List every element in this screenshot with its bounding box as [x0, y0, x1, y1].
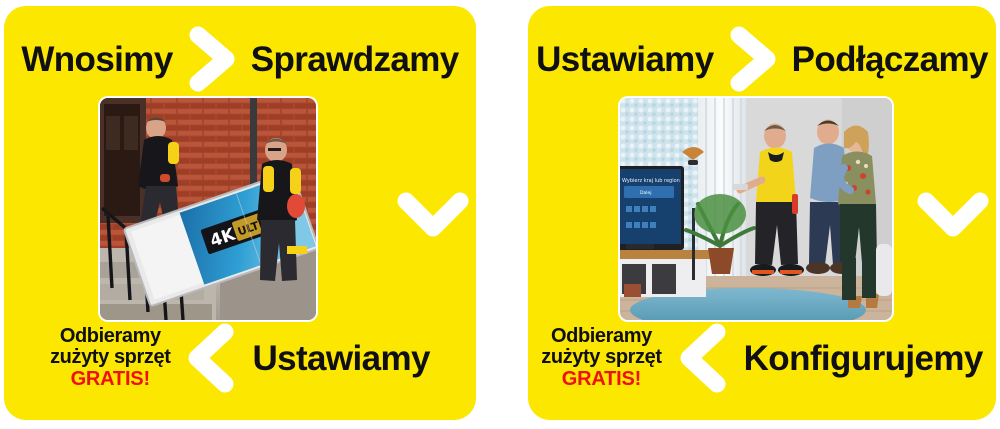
- recycling-note-left: Odbieramy zużyty sprzęt GRATIS!: [50, 326, 170, 390]
- recycle-line-1: Odbieramy: [551, 326, 652, 347]
- step-label-podlaczamy: Podłączamy: [792, 42, 988, 77]
- promo-banner: Wnosimy Sprawdzamy: [0, 0, 1000, 429]
- recycle-line-2: zużyty sprzęt: [541, 347, 661, 368]
- chevron-left-icon: [676, 321, 730, 395]
- panel-left-top-row: Wnosimy Sprawdzamy: [4, 28, 476, 90]
- recycle-gratis-badge: GRATIS!: [71, 369, 150, 390]
- recycle-line-1: Odbieramy: [60, 326, 161, 347]
- photo-illustration-delivery: 4K ULTRAHD: [100, 98, 316, 320]
- photo-delivery-carrying-tv: 4K ULTRAHD: [100, 98, 316, 320]
- recycling-note-right: Odbieramy zużyty sprzęt GRATIS!: [541, 326, 661, 390]
- panel-left-bottom-row: Odbieramy zużyty sprzęt GRATIS! Ustawiam…: [4, 310, 476, 406]
- svg-text:Wybierz kraj lub region: Wybierz kraj lub region: [622, 178, 680, 184]
- panel-right-top-row: Ustawiamy Podłączamy: [528, 28, 996, 90]
- chevron-right-icon: [185, 26, 239, 92]
- service-step-panel-right: Ustawiamy Podłączamy: [528, 6, 996, 420]
- step-label-ustawiamy: Ustawiamy: [252, 341, 429, 376]
- step-label-konfigurujemy: Konfigurujemy: [744, 341, 983, 376]
- step-label-ustawiamy-top: Ustawiamy: [536, 42, 713, 77]
- service-step-panel-left: Wnosimy Sprawdzamy: [4, 6, 476, 420]
- chevron-left-icon: [184, 321, 238, 395]
- photo-illustration-installation: Wybierz kraj lub region Dalej: [620, 98, 892, 320]
- photo-installation-living-room: Wybierz kraj lub region Dalej: [620, 98, 892, 320]
- panel-right-bottom-row: Odbieramy zużyty sprzęt GRATIS! Konfigur…: [528, 310, 996, 406]
- step-label-wnosimy: Wnosimy: [21, 42, 172, 77]
- chevron-down-icon: [396, 188, 470, 242]
- svg-text:Dalej: Dalej: [640, 190, 652, 196]
- chevron-down-icon: [916, 188, 990, 242]
- chevron-right-icon: [726, 26, 780, 92]
- recycle-line-2: zużyty sprzęt: [50, 347, 170, 368]
- recycle-gratis-badge: GRATIS!: [562, 369, 641, 390]
- step-label-sprawdzamy: Sprawdzamy: [251, 42, 459, 77]
